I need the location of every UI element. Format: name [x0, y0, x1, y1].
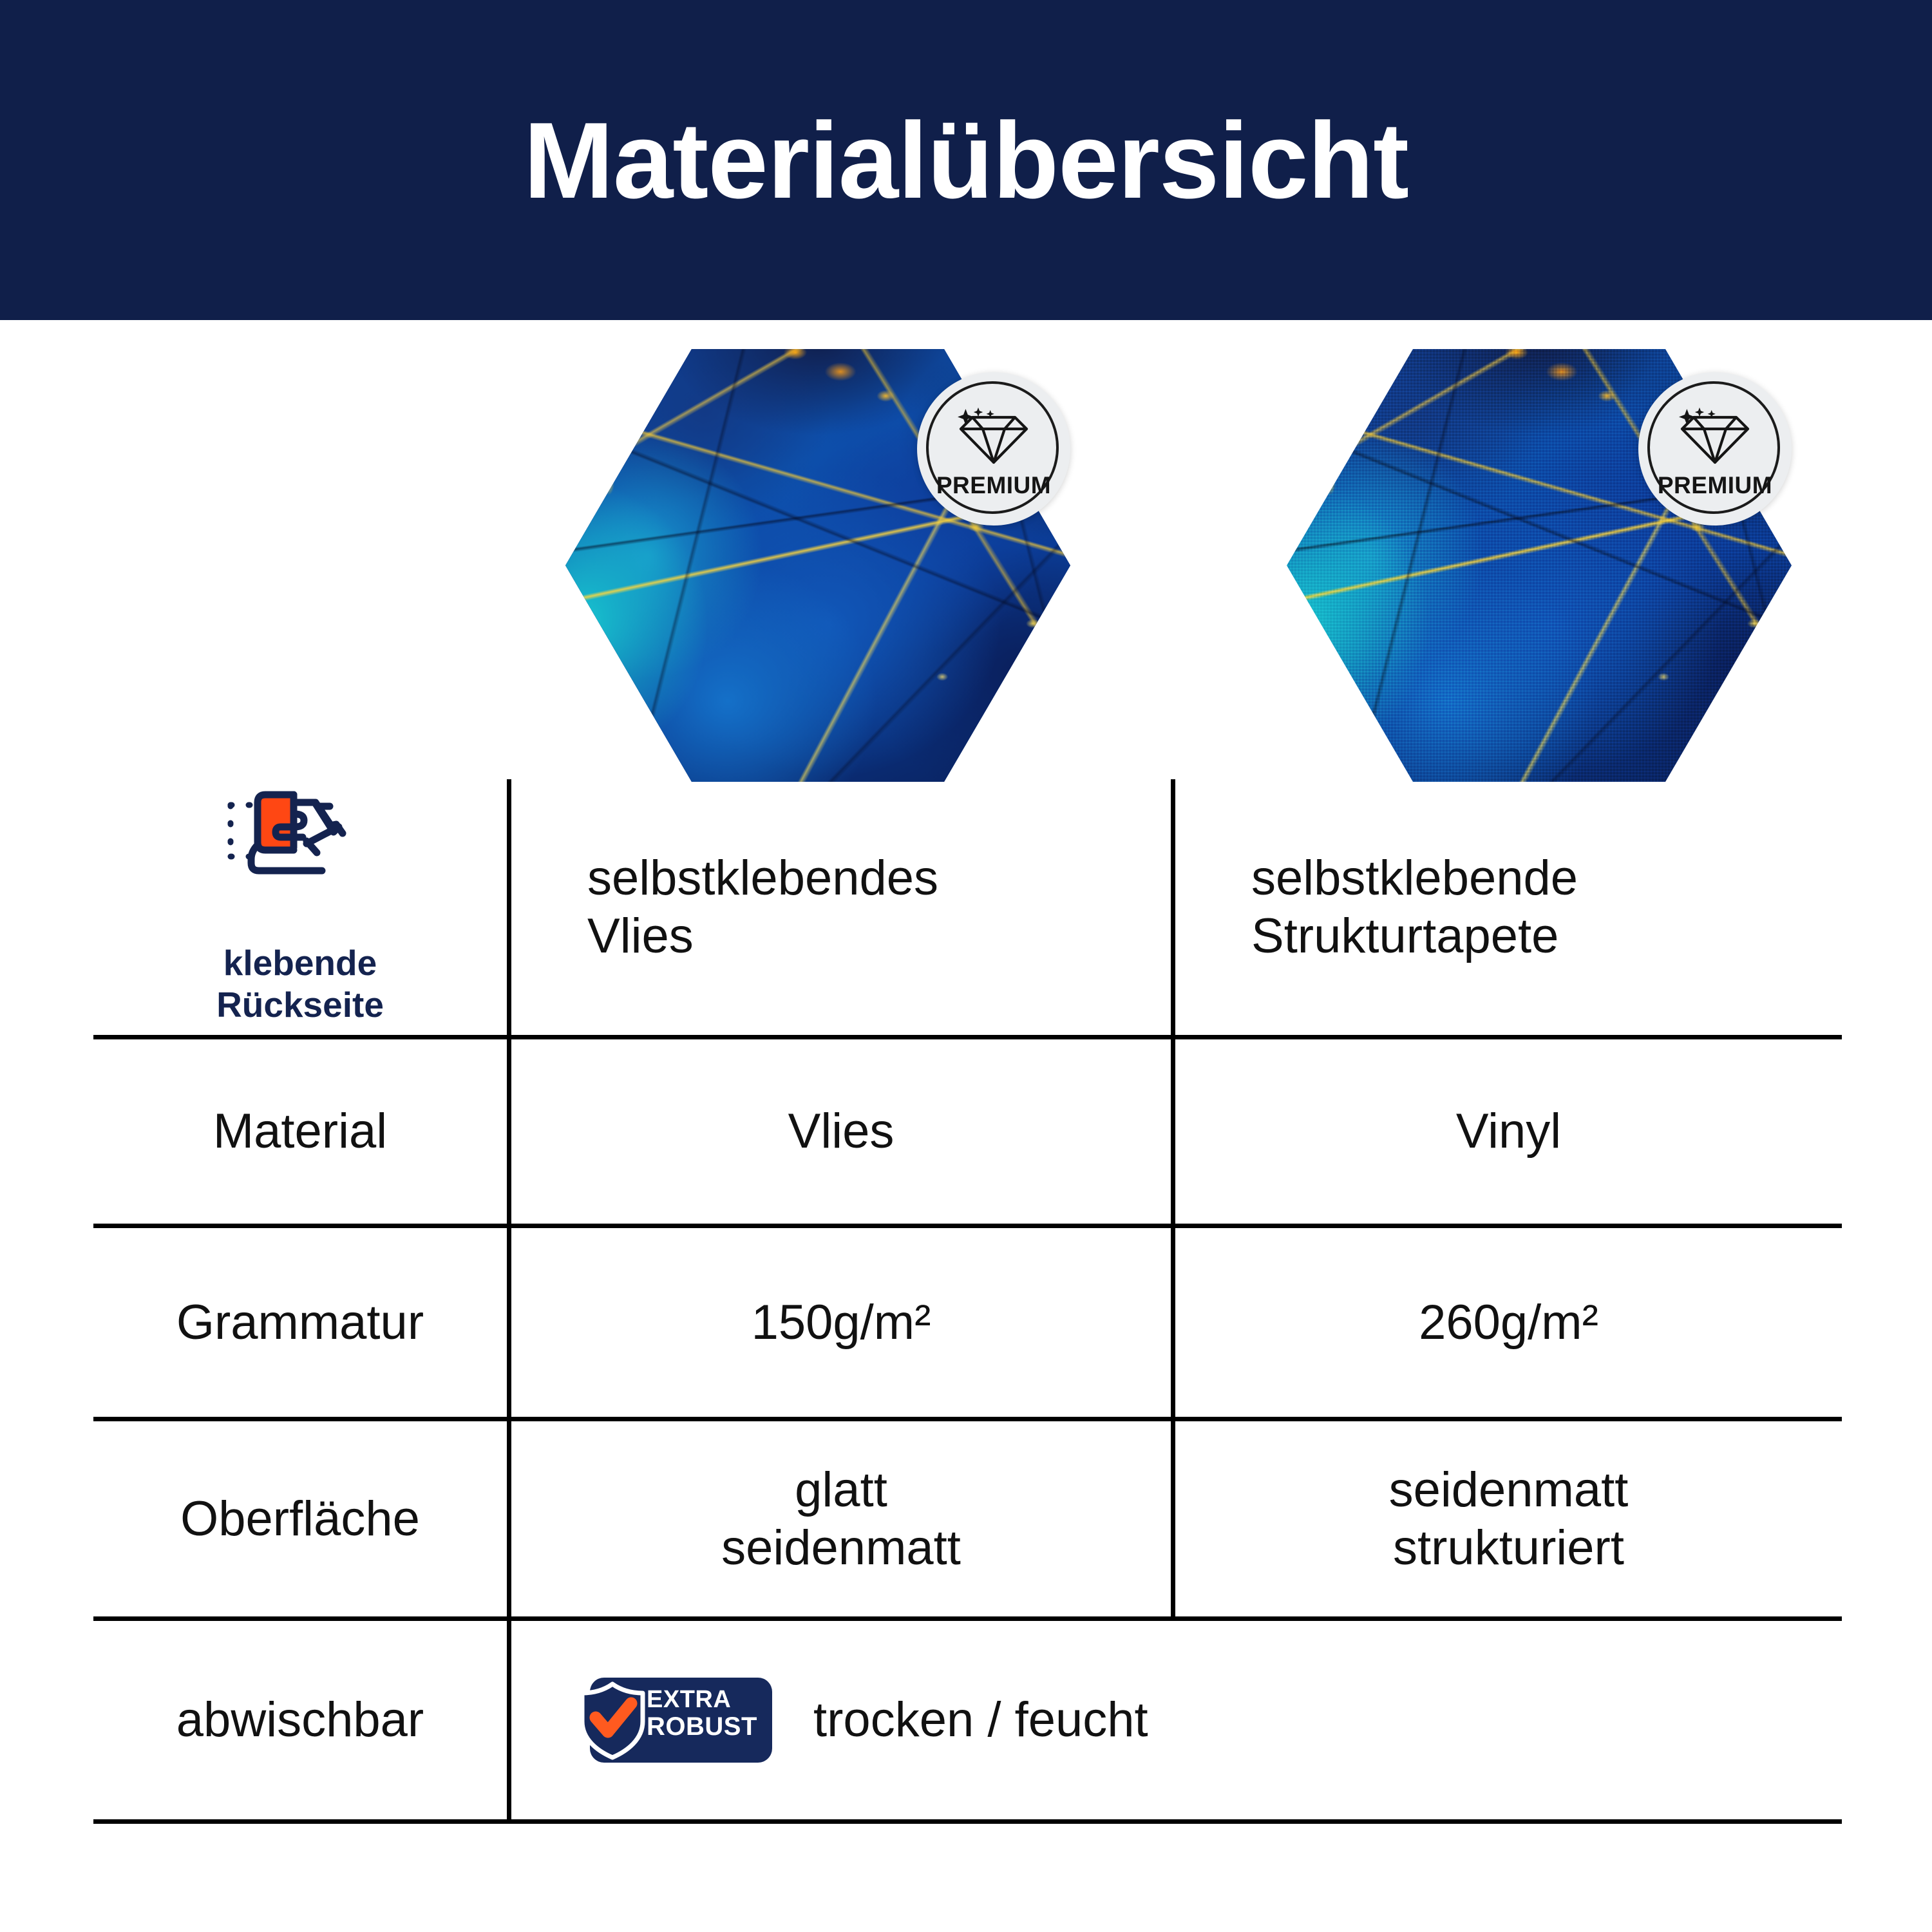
table-row-material: Material Vlies Vinyl — [93, 1035, 1842, 1224]
extra-robust-badge: EXTRA ROBUST — [576, 1675, 772, 1765]
material-value-col-b: Vinyl — [1171, 1039, 1842, 1224]
oberflaeche-value-col-a: glatt seidenmatt — [507, 1421, 1171, 1616]
row-label-abwischbar: abwischbar — [93, 1621, 507, 1819]
product-image-strukturtapete: PREMIUM — [1287, 349, 1792, 782]
premium-badge: PREMIUM — [1638, 372, 1792, 526]
row-label-oberflaeche: Oberfläche — [93, 1421, 507, 1616]
product-image-vlies: PREMIUM — [565, 349, 1070, 782]
abwischbar-value: trocken / feucht — [813, 1691, 1148, 1749]
header-banner: Materialübersicht — [0, 0, 1932, 320]
robust-label-line1: EXTRA — [647, 1687, 766, 1713]
premium-badge: PREMIUM — [917, 372, 1070, 526]
material-overview-page: Materialübersicht PRE — [0, 0, 1932, 1932]
table-row-grammatur: Grammatur 150g/m² 260g/m² — [93, 1224, 1842, 1417]
diamond-icon — [1677, 407, 1753, 469]
specification-table: klebende Rückseite selbstklebendes Vlies… — [93, 779, 1842, 1824]
premium-badge-label: PREMIUM — [1658, 473, 1772, 497]
grammatur-value-col-a: 150g/m² — [507, 1228, 1171, 1417]
adhesive-label-line1: klebende — [216, 942, 384, 984]
peeling-sticker-hand-icon — [219, 788, 381, 930]
adhesive-label-line2: Rückseite — [216, 984, 384, 1026]
product-name-col-b: selbstklebende Strukturtapete — [1171, 779, 1842, 1035]
abwischbar-value-cell: EXTRA ROBUST trocken / feucht — [507, 1621, 1842, 1819]
robust-label-line2: ROBUST — [647, 1713, 766, 1741]
adhesive-back-cell: klebende Rückseite — [93, 779, 507, 1035]
grammatur-value-col-b: 260g/m² — [1171, 1228, 1842, 1417]
premium-badge-label: PREMIUM — [936, 473, 1051, 497]
row-label-grammatur: Grammatur — [93, 1228, 507, 1417]
table-row-abwischbar: abwischbar EXTRA ROBUST trocken / feucht — [93, 1616, 1842, 1819]
table-row-oberflaeche: Oberfläche glatt seidenmatt seidenmatt s… — [93, 1417, 1842, 1616]
table-row-product-names: klebende Rückseite selbstklebendes Vlies… — [93, 779, 1842, 1035]
row-label-material: Material — [93, 1039, 507, 1224]
product-name-col-a: selbstklebendes Vlies — [507, 779, 1171, 1035]
material-value-col-a: Vlies — [507, 1039, 1171, 1224]
oberflaeche-value-col-b: seidenmatt strukturiert — [1171, 1421, 1842, 1616]
diamond-icon — [956, 407, 1032, 469]
page-title: Materialübersicht — [524, 106, 1408, 214]
